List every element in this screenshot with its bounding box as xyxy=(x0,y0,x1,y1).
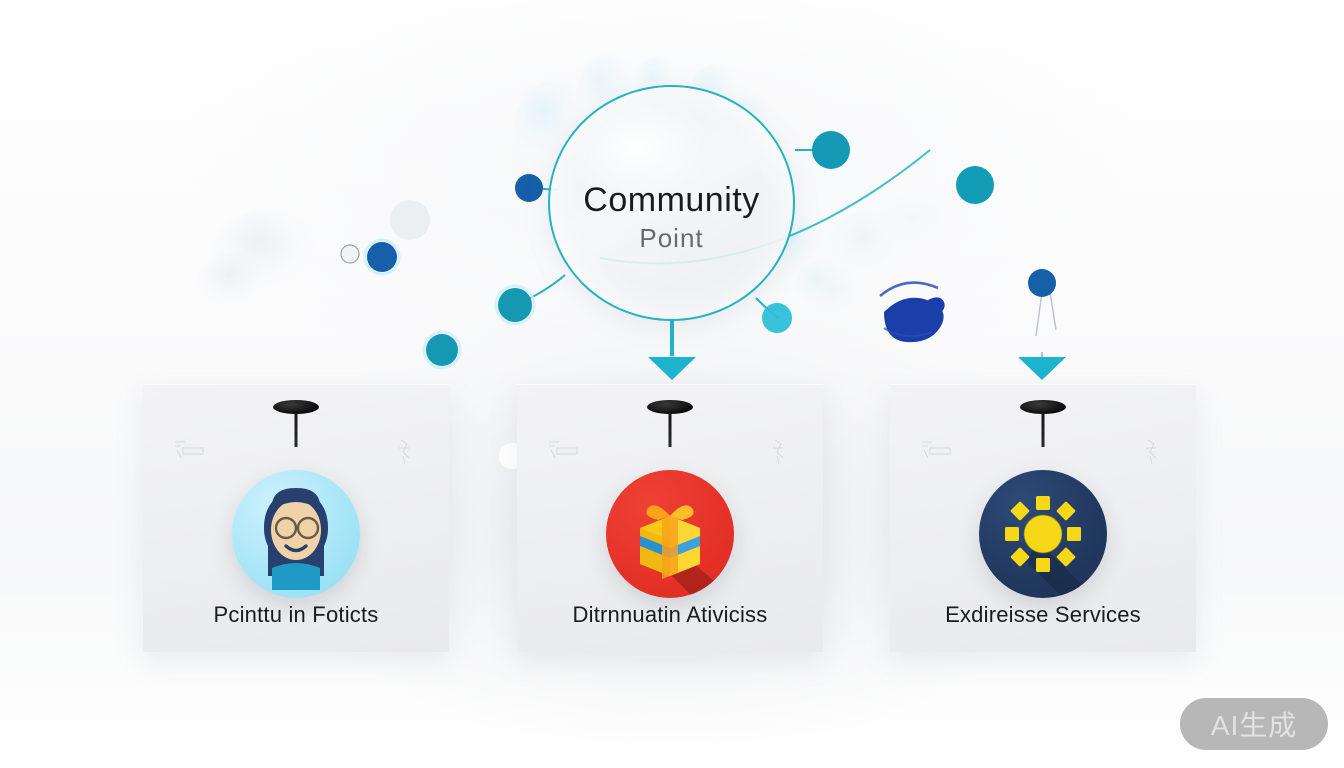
pushpin-icon xyxy=(266,400,326,448)
fish-ornament xyxy=(880,283,945,343)
decorative-fleck-left-icon xyxy=(171,436,209,466)
card-2[interactable]: Exdireisse Services xyxy=(890,384,1196,652)
decorative-fleck-right-icon xyxy=(383,436,421,466)
card-label: Pcinttu in Foticts xyxy=(143,602,449,628)
card-0[interactable]: Pcinttu in Foticts xyxy=(143,384,449,652)
decorative-fleck-right-icon xyxy=(1130,436,1168,466)
hub-title: Community xyxy=(583,183,759,217)
pushpin-icon xyxy=(1013,400,1073,448)
card-1[interactable]: Ditrnnuatin Ativiciss xyxy=(517,384,823,652)
decorative-fleck-right-icon xyxy=(757,436,795,466)
card-label: Exdireisse Services xyxy=(890,602,1196,628)
ai-generated-watermark: AI生成 xyxy=(1180,698,1328,750)
hub-subtitle: Point xyxy=(639,225,703,251)
pushpin-icon xyxy=(640,400,700,448)
person-avatar-icon xyxy=(232,470,360,598)
decorative-fleck-left-icon xyxy=(545,436,583,466)
gift-box-icon xyxy=(606,470,734,598)
funnel-arrows xyxy=(648,357,1066,380)
card-label: Ditrnnuatin Ativiciss xyxy=(517,602,823,628)
sun-gear-icon xyxy=(979,470,1107,598)
decorative-fleck-left-icon xyxy=(918,436,956,466)
connector-lines-thin xyxy=(1036,292,1056,366)
central-hub[interactable]: Community Point xyxy=(548,85,795,321)
infographic-canvas: Community Point xyxy=(0,0,1344,768)
